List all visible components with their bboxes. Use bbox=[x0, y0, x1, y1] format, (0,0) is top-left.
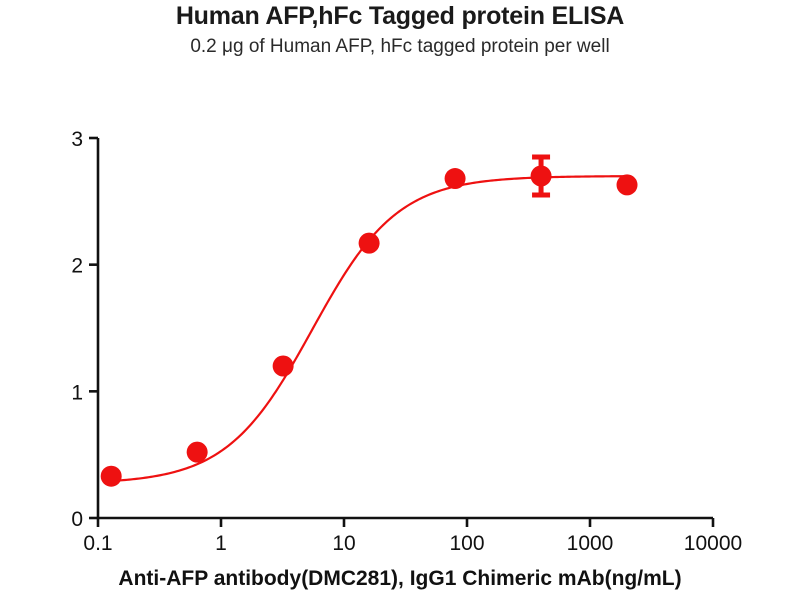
x-tick-label: 10 bbox=[332, 532, 355, 555]
x-tick-label: 0.1 bbox=[83, 532, 112, 555]
data-point-marker bbox=[187, 442, 208, 463]
y-tick-label: 3 bbox=[71, 128, 83, 151]
axes bbox=[98, 138, 713, 518]
data-point-marker bbox=[359, 233, 380, 254]
axis-tick-labels: 01230.1110100100010000 bbox=[71, 128, 742, 555]
x-tick-label: 100 bbox=[449, 532, 484, 555]
data-point-marker bbox=[273, 356, 294, 377]
y-tick-label: 0 bbox=[71, 508, 83, 531]
x-tick-label: 10000 bbox=[684, 532, 742, 555]
y-tick-label: 1 bbox=[71, 381, 83, 404]
data-point-marker bbox=[101, 466, 122, 487]
y-tick-label: 2 bbox=[71, 255, 83, 278]
data-points bbox=[101, 166, 638, 487]
fit-curve bbox=[111, 176, 627, 481]
sigmoid-fit-line bbox=[111, 176, 627, 481]
data-point-marker bbox=[445, 168, 466, 189]
data-point-marker bbox=[617, 174, 638, 195]
elisa-chart-figure: Human AFP,hFc Tagged protein ELISA 0.2 μ… bbox=[0, 0, 800, 600]
x-tick-label: 1 bbox=[215, 532, 227, 555]
plot-area: 01230.1110100100010000 bbox=[0, 0, 800, 600]
data-point-marker bbox=[531, 166, 552, 187]
x-tick-label: 1000 bbox=[567, 532, 614, 555]
